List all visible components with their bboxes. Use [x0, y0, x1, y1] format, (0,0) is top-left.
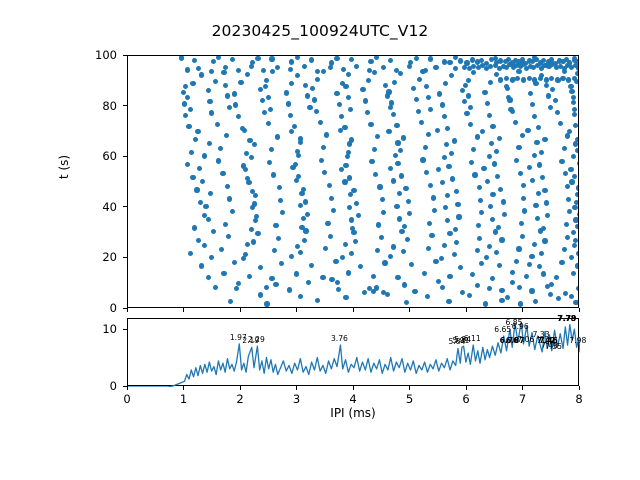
scatter-point — [395, 161, 400, 166]
scatter-point — [258, 87, 263, 92]
x-tick-mark — [579, 308, 580, 312]
y-tick-label: 40 — [63, 200, 117, 214]
scatter-point — [185, 162, 190, 167]
scatter-point — [555, 110, 560, 115]
y-tick-mark — [123, 105, 127, 106]
scatter-point — [341, 67, 346, 72]
scatter-point — [376, 222, 381, 227]
scatter-point — [315, 77, 320, 82]
x-tick-mark — [409, 308, 410, 312]
scatter-point — [541, 271, 546, 276]
scatter-point — [251, 239, 256, 244]
scatter-point — [209, 110, 214, 115]
scatter-point — [315, 69, 320, 74]
scatter-point — [309, 57, 314, 62]
scatter-point — [419, 120, 424, 125]
scatter-point — [529, 288, 534, 293]
scatter-point — [544, 83, 549, 88]
scatter-point — [196, 238, 201, 243]
scatter-point — [216, 56, 221, 60]
scatter-point — [429, 233, 434, 238]
scatter-point — [386, 129, 391, 134]
scatter-point — [572, 112, 577, 117]
scatter-point — [494, 72, 499, 77]
scatter-point — [490, 124, 495, 129]
scatter-point — [452, 138, 457, 143]
scatter-point — [532, 153, 537, 158]
scatter-point — [253, 193, 258, 198]
scatter-point — [258, 265, 263, 270]
scatter-point — [382, 260, 387, 265]
scatter-point — [482, 90, 487, 95]
scatter-point — [346, 95, 351, 100]
scatter-point — [236, 114, 241, 119]
x-tick-mark — [127, 308, 128, 312]
scatter-point — [221, 271, 226, 276]
scatter-point — [250, 60, 255, 65]
scatter-point — [477, 236, 482, 241]
scatter-point — [539, 150, 544, 155]
scatter-point — [456, 214, 461, 219]
scatter-point — [420, 157, 425, 162]
scatter-point — [305, 93, 310, 98]
hist-x-tick-mark — [240, 386, 241, 390]
scatter-point — [232, 260, 237, 265]
scatter-point — [478, 198, 483, 203]
scatter-point — [471, 147, 476, 152]
scatter-point — [528, 91, 533, 96]
scatter-points-layer — [128, 56, 578, 307]
scatter-point — [270, 69, 275, 74]
scatter-point — [236, 281, 241, 286]
scatter-point — [443, 81, 448, 86]
scatter-point — [327, 183, 332, 188]
scatter-point — [532, 242, 537, 247]
scatter-point — [206, 275, 211, 280]
scatter-point — [445, 193, 450, 198]
scatter-point — [446, 164, 451, 169]
scatter-point — [573, 238, 578, 243]
scatter-point — [372, 70, 377, 75]
scatter-point — [524, 274, 529, 279]
scatter-point — [303, 228, 308, 233]
scatter-point — [289, 81, 294, 86]
scatter-point — [225, 93, 230, 98]
hist-x-tick-label: 0 — [97, 392, 157, 406]
scatter-point — [417, 77, 422, 82]
scatter-point — [391, 244, 396, 249]
scatter-point — [499, 298, 504, 303]
scatter-point — [542, 137, 547, 142]
scatter-point — [186, 124, 191, 129]
scatter-point — [392, 80, 397, 85]
scatter-point — [208, 191, 213, 196]
scatter-point — [363, 98, 368, 103]
scatter-point — [289, 254, 294, 259]
scatter-point — [348, 192, 353, 197]
scatter-point — [288, 67, 293, 72]
scatter-point — [202, 243, 207, 248]
scatter-point — [266, 95, 271, 100]
scatter-point — [335, 280, 340, 285]
scatter-point — [202, 153, 207, 158]
scatter-point — [264, 285, 269, 290]
scatter-point — [575, 224, 578, 229]
scatter-point — [565, 184, 570, 189]
scatter-point — [515, 76, 520, 81]
hist-x-tick-label: 6 — [436, 392, 496, 406]
scatter-point — [426, 95, 431, 100]
scatter-point — [207, 141, 212, 146]
scatter-point — [196, 66, 201, 71]
scatter-point — [535, 216, 540, 221]
scatter-point — [295, 244, 300, 249]
scatter-point — [277, 185, 282, 190]
scatter-point — [407, 211, 412, 216]
scatter-point — [442, 114, 447, 119]
scatter-point — [527, 165, 532, 170]
scatter-point — [324, 132, 329, 137]
y-tick-mark — [123, 257, 127, 258]
scatter-point — [278, 198, 283, 203]
scatter-point — [183, 113, 188, 118]
x-tick-mark — [296, 308, 297, 312]
scatter-point — [211, 59, 216, 64]
scatter-point — [271, 172, 276, 177]
scatter-point — [377, 184, 382, 189]
scatter-point — [365, 110, 370, 115]
scatter-point — [436, 279, 441, 284]
y-tick-mark — [123, 156, 127, 157]
scatter-point — [192, 225, 197, 230]
scatter-point — [322, 170, 327, 175]
scatter-point — [258, 292, 263, 297]
scatter-point — [232, 91, 237, 96]
scatter-point — [428, 56, 433, 61]
scatter-point — [422, 271, 427, 276]
scatter-point — [294, 178, 299, 183]
scatter-point — [480, 129, 485, 134]
scatter-point — [394, 68, 399, 73]
scatter-point — [242, 128, 247, 133]
scatter-point — [548, 105, 553, 110]
scatter-point — [437, 91, 442, 96]
scatter-point — [433, 65, 438, 70]
scatter-point — [468, 105, 473, 110]
scatter-point — [351, 230, 356, 235]
scatter-point — [516, 145, 521, 150]
scatter-point — [576, 185, 578, 190]
scatter-point — [190, 81, 195, 86]
scatter-point — [573, 217, 578, 222]
scatter-point — [572, 174, 577, 179]
scatter-point — [575, 148, 578, 153]
scatter-point — [452, 252, 457, 257]
scatter-point — [426, 132, 431, 137]
scatter-point — [565, 235, 570, 240]
scatter-point — [388, 254, 393, 259]
scatter-point — [445, 218, 450, 223]
scatter-point — [488, 204, 493, 209]
scatter-point — [206, 88, 211, 93]
scatter-point — [426, 246, 431, 251]
y-axis-label: t (s) — [57, 155, 71, 179]
scatter-point — [433, 259, 438, 264]
hist-x-tick-label: 1 — [154, 392, 214, 406]
scatter-point — [443, 205, 448, 210]
scatter-point — [314, 109, 319, 114]
scatter-point — [234, 286, 239, 291]
scatter-point — [207, 99, 212, 104]
scatter-point — [339, 167, 344, 172]
scatter-point — [321, 145, 326, 150]
scatter-point — [329, 277, 334, 282]
scatter-point — [571, 271, 576, 276]
scatter-point — [484, 61, 489, 66]
scatter-point — [530, 102, 535, 107]
scatter-point — [199, 263, 204, 268]
scatter-point — [261, 68, 266, 73]
scatter-point — [303, 83, 308, 88]
scatter-point — [576, 251, 578, 256]
scatter-point — [192, 58, 197, 63]
scatter-point — [318, 120, 323, 125]
scatter-point — [230, 57, 235, 62]
scatter-point — [249, 227, 254, 232]
scatter-point — [299, 191, 304, 196]
scatter-point — [460, 290, 465, 295]
peak-annotation-label: 6.11 — [464, 335, 481, 343]
scatter-point — [391, 112, 396, 117]
scatter-point — [536, 125, 541, 130]
scatter-point — [354, 201, 359, 206]
scatter-point — [203, 204, 208, 209]
scatter-point — [562, 247, 567, 252]
scatter-point — [572, 243, 577, 248]
scatter-point — [228, 299, 233, 304]
scatter-point — [518, 301, 523, 306]
scatter-plot-panel — [127, 55, 579, 308]
scatter-point — [494, 149, 499, 154]
scatter-point — [497, 263, 502, 268]
scatter-point — [462, 99, 467, 104]
scatter-point — [394, 204, 399, 209]
scatter-point — [449, 151, 454, 156]
scatter-point — [402, 282, 407, 287]
scatter-point — [577, 212, 578, 217]
scatter-point — [220, 171, 225, 176]
scatter-point — [440, 285, 445, 290]
scatter-point — [398, 148, 403, 153]
scatter-point — [527, 76, 532, 81]
scatter-point — [273, 223, 278, 228]
y-tick-mark — [123, 206, 127, 207]
scatter-point — [571, 230, 576, 235]
scatter-point — [238, 80, 243, 85]
scatter-point — [380, 197, 385, 202]
scatter-point — [568, 167, 573, 172]
scatter-point — [556, 296, 561, 301]
scatter-point — [223, 83, 228, 88]
scatter-point — [576, 286, 578, 291]
scatter-point — [450, 176, 455, 181]
scatter-point — [221, 70, 226, 75]
hist-y-tick-mark — [123, 329, 127, 330]
scatter-point — [298, 250, 303, 255]
scatter-point — [571, 154, 576, 159]
scatter-point — [471, 70, 476, 75]
scatter-point — [336, 287, 341, 292]
scatter-point — [298, 203, 303, 208]
scatter-point — [484, 255, 489, 260]
scatter-point — [563, 291, 568, 296]
scatter-point — [224, 133, 229, 138]
scatter-point — [475, 283, 480, 288]
scatter-point — [569, 179, 574, 184]
scatter-point — [306, 280, 311, 285]
scatter-point — [546, 93, 551, 98]
scatter-point — [573, 141, 578, 146]
scatter-point — [374, 56, 379, 60]
scatter-point — [302, 64, 307, 69]
scatter-point — [476, 223, 481, 228]
scatter-point — [550, 87, 555, 92]
peak-annotation-label: 7.55 — [545, 343, 562, 351]
scatter-point — [538, 228, 543, 233]
scatter-point — [275, 65, 280, 70]
scatter-point — [290, 165, 295, 170]
scatter-point — [333, 259, 338, 264]
scatter-point — [440, 180, 445, 185]
scatter-point — [572, 107, 577, 112]
scatter-point — [295, 56, 300, 60]
scatter-point — [395, 275, 400, 280]
scatter-point — [246, 180, 251, 185]
scatter-point — [553, 98, 558, 103]
scatter-point — [572, 76, 577, 81]
hist-x-tick-label: 4 — [323, 392, 383, 406]
scatter-point — [267, 160, 272, 165]
scatter-point — [356, 213, 361, 218]
scatter-point — [373, 172, 378, 177]
scatter-point — [516, 69, 521, 74]
hist-x-tick-mark — [409, 386, 410, 390]
scatter-point — [534, 140, 539, 145]
scatter-point — [216, 158, 221, 163]
scatter-point — [464, 111, 469, 116]
scatter-point — [399, 229, 404, 234]
hist-x-tick-mark — [127, 386, 128, 390]
hist-x-tick-mark — [353, 386, 354, 390]
scatter-point — [331, 208, 336, 213]
scatter-point — [236, 68, 241, 73]
scatter-point — [498, 187, 503, 192]
scatter-point — [460, 88, 465, 93]
scatter-point — [249, 155, 254, 160]
scatter-point — [466, 93, 471, 98]
scatter-point — [545, 213, 550, 218]
scatter-point — [225, 184, 230, 189]
scatter-point — [573, 300, 578, 305]
hist-x-tick-label: 5 — [380, 392, 440, 406]
peak-annotation-label: 7.79 — [558, 315, 577, 323]
scatter-point — [245, 242, 250, 247]
scatter-point — [487, 286, 492, 291]
scatter-point — [368, 122, 373, 127]
y-tick-mark — [123, 55, 127, 56]
scatter-point — [414, 97, 419, 102]
scatter-point — [347, 205, 352, 210]
scatter-point — [319, 158, 324, 163]
scatter-point — [538, 76, 543, 81]
scatter-point — [525, 128, 530, 133]
scatter-point — [533, 203, 538, 208]
scatter-point — [230, 209, 235, 214]
scatter-point — [284, 90, 289, 95]
scatter-point — [481, 166, 486, 171]
scatter-point — [423, 145, 428, 150]
scatter-point — [262, 110, 267, 115]
scatter-point — [510, 270, 515, 275]
scatter-point — [560, 76, 565, 81]
scatter-point — [310, 86, 315, 91]
scatter-point — [548, 292, 553, 297]
scatter-point — [559, 260, 564, 265]
scatter-point — [530, 178, 535, 183]
scatter-point — [492, 161, 497, 166]
scatter-point — [247, 274, 252, 279]
y-tick-label: 0 — [63, 301, 117, 315]
scatter-point — [577, 161, 578, 166]
scatter-point — [472, 172, 477, 177]
scatter-point — [469, 160, 474, 165]
scatter-point — [383, 83, 388, 88]
scatter-point — [349, 57, 354, 62]
hist-y-tick-label: 0 — [63, 379, 117, 393]
scatter-point — [562, 146, 567, 151]
scatter-point — [218, 146, 223, 151]
scatter-point — [442, 59, 447, 64]
scatter-point — [315, 298, 320, 303]
scatter-point — [493, 229, 498, 234]
hist-x-tick-mark — [579, 386, 580, 390]
scatter-point — [312, 97, 317, 102]
scatter-point — [449, 73, 454, 78]
hist-x-tick-label: 2 — [210, 392, 270, 406]
scatter-point — [576, 66, 578, 71]
hist-x-tick-label: 3 — [267, 392, 327, 406]
scatter-point — [404, 300, 409, 305]
scatter-point — [337, 102, 342, 107]
scatter-point — [343, 163, 348, 168]
scatter-point — [537, 264, 542, 269]
scatter-point — [183, 84, 188, 89]
hist-x-tick-mark — [183, 386, 184, 390]
scatter-point — [287, 287, 292, 292]
scatter-point — [255, 231, 260, 236]
scatter-point — [385, 292, 390, 297]
scatter-point — [372, 147, 377, 152]
scatter-point — [200, 179, 205, 184]
scatter-point — [520, 234, 525, 239]
scatter-point — [195, 129, 200, 134]
scatter-point — [569, 294, 574, 299]
peak-annotation-label: 7.98 — [569, 337, 586, 345]
peak-annotation-label: 3.76 — [331, 335, 348, 343]
scatter-point — [467, 293, 472, 298]
scatter-point — [255, 56, 260, 61]
scatter-point — [334, 91, 339, 96]
